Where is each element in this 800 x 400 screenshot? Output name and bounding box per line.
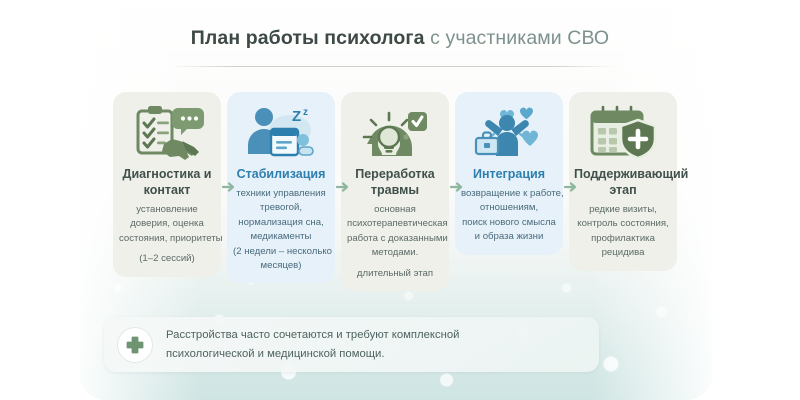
title-line: Поддерживающий [574, 167, 688, 181]
stage-card-stabilization[interactable]: Z z Стабилизация техники управления трев… [227, 92, 335, 283]
stage-card-integration[interactable]: Интеграция возвращение к работе, отношен… [455, 92, 563, 255]
medical-cross-icon [118, 328, 152, 362]
summary-banner-text: Расстройства часто сочетаются и требуют … [166, 326, 459, 363]
svg-text:Z: Z [292, 108, 301, 125]
arrow-right-icon [336, 180, 350, 192]
head-lightbulb-check-icon [346, 101, 444, 163]
body-line: доверия, оценка [119, 217, 215, 231]
title-line: Интеграция [473, 167, 545, 181]
stage-card-title: Диагностика и контакт [118, 166, 216, 198]
stage-card-body: техники управления тревогой, нормализаци… [232, 187, 330, 273]
body-line: состояния, приоритеты [119, 232, 215, 246]
body-line: основная [347, 203, 443, 217]
stage-card-title: Поддерживающий этап [574, 166, 672, 198]
body-line: поиск нового смысла [461, 216, 557, 230]
body-line: установление [119, 203, 215, 217]
arrow-right-icon [450, 180, 464, 192]
body-line: рецидива [575, 246, 671, 260]
body-line: и образа жизни [461, 230, 557, 244]
body-line: нормализация сна, [233, 216, 329, 230]
title-line: травмы [371, 183, 419, 197]
title-line: Стабилизация [237, 167, 326, 181]
stage-card-body: установление доверия, оценка состояния, … [118, 203, 216, 267]
body-line: методами. [347, 246, 443, 260]
title-line: этап [609, 183, 636, 197]
stage-card-maintenance[interactable]: Поддерживающий этап редкие визиты, контр… [569, 92, 677, 271]
body-note-line: длительный этап [347, 267, 443, 281]
body-note-line: месяцев) [233, 259, 329, 273]
body-note-line: (2 недели – несколько [233, 245, 329, 259]
body-line: профилактика [575, 232, 671, 246]
body-line: возвращение к работе, [461, 187, 557, 201]
title-line: Диагностика [123, 167, 201, 181]
banner-line: Расстройства часто сочетаются и требуют … [166, 326, 459, 344]
summary-banner: Расстройства часто сочетаются и требуют … [104, 317, 599, 372]
body-line: работа с доказанными [347, 232, 443, 246]
stage-card-body: основная психотерапевтическая работа с д… [346, 203, 444, 281]
body-line: контроль состояния, [575, 217, 671, 231]
person-sleep-medication-icon: Z z [232, 101, 330, 163]
stage-card-body: возвращение к работе, отношениям, поиск … [460, 187, 558, 245]
infographic-root: План работы психолога с участниками СВО [0, 0, 800, 400]
arrow-right-icon [222, 180, 236, 192]
arrow-right-icon [564, 180, 578, 192]
body-line: медикаменты [233, 230, 329, 244]
body-line: психотерапевтическая [347, 217, 443, 231]
celebrating-person-hearts-briefcase-icon [460, 101, 558, 163]
stage-card-diagnostics[interactable]: Диагностика и контакт установление довер… [113, 92, 221, 277]
svg-text:z: z [303, 107, 308, 118]
stage-card-body: редкие визиты, контроль состояния, профи… [574, 203, 672, 261]
stage-card-title: Переработка травмы [346, 166, 444, 198]
body-note-line: (1–2 сессий) [119, 252, 215, 266]
body-line: техники управления [233, 187, 329, 201]
stage-card-title: Интеграция [460, 166, 558, 182]
body-line: отношениям, [461, 201, 557, 215]
title-line: Переработка [355, 167, 435, 181]
calendar-shield-plus-icon [574, 101, 672, 163]
body-line: редкие визиты, [575, 203, 671, 217]
stage-card-title: Стабилизация [232, 166, 330, 182]
stage-card-trauma-processing[interactable]: Переработка травмы основная психотерапев… [341, 92, 449, 291]
clipboard-checklist-handshake-icon [118, 101, 216, 163]
body-line: тревогой, [233, 201, 329, 215]
banner-line: психологической и медицинской помощи. [166, 345, 459, 363]
